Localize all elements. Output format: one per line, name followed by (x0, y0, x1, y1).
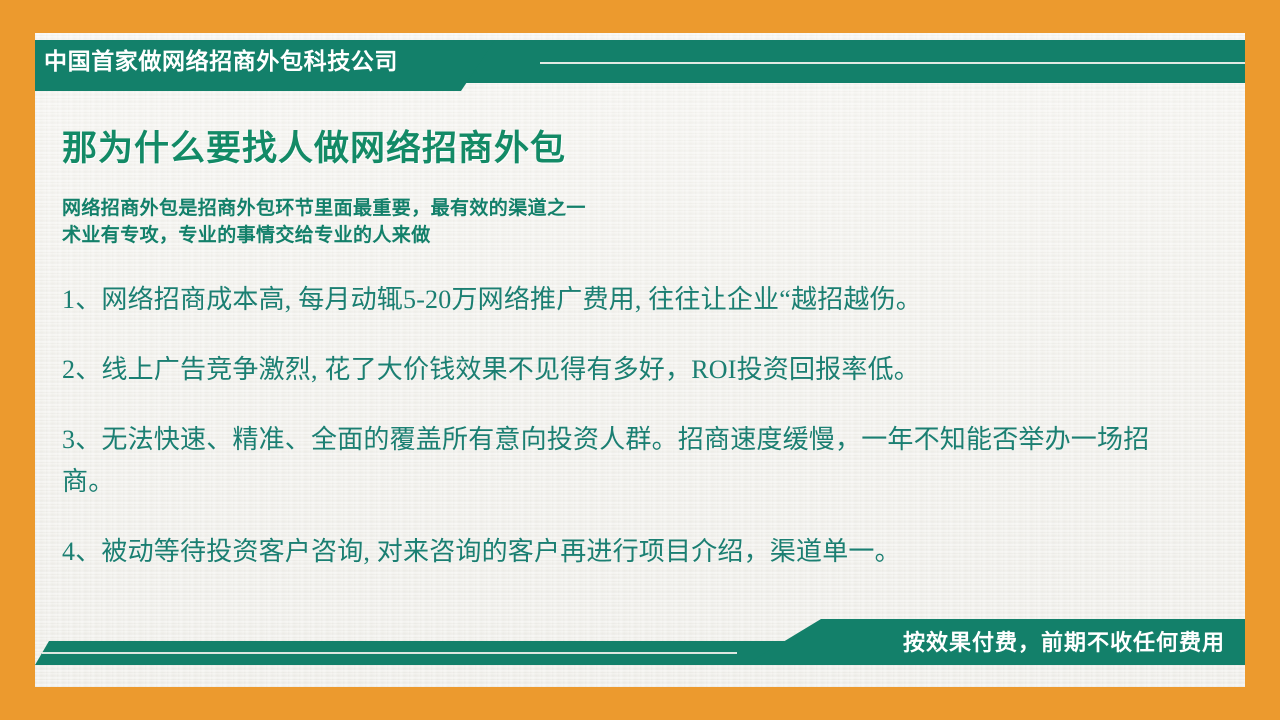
header-title: 中国首家做网络招商外包科技公司 (44, 46, 464, 77)
slide-root: 中国首家做网络招商外包科技公司 那为什么要找人做网络招商外包 网络招商外包是招商… (0, 0, 1280, 720)
content-area: 那为什么要找人做网络招商外包 网络招商外包是招商外包环节里面最重要，最有效的渠道… (62, 125, 1212, 573)
right-border-strip (1245, 0, 1280, 720)
header-divider-line (540, 62, 1280, 64)
subtitle-block: 网络招商外包是招商外包环节里面最重要，最有效的渠道之一 术业有专攻，专业的事情交… (62, 195, 1212, 249)
list-item: 3、无法快速、精准、全面的覆盖所有意向投资人群。招商速度缓慢，一年不知能否举办一… (62, 419, 1182, 503)
list-item: 4、被动等待投资客户咨询, 对来咨询的客户再进行项目介绍，渠道单一。 (62, 531, 1182, 573)
footer-tagline: 按效果付费，前期不收任何费用 (903, 628, 1225, 658)
left-border-strip (0, 0, 35, 720)
page-title: 那为什么要找人做网络招商外包 (62, 125, 1212, 173)
points-list: 1、网络招商成本高, 每月动辄5-20万网络推广费用, 往往让企业“越招越伤。 … (62, 279, 1212, 573)
list-item: 2、线上广告竞争激烈, 花了大价钱效果不见得有多好，ROI投资回报率低。 (62, 349, 1182, 391)
subtitle-line-2: 术业有专攻，专业的事情交给专业的人来做 (62, 222, 1212, 249)
footer-divider-line (42, 652, 737, 654)
subtitle-line-1: 网络招商外包是招商外包环节里面最重要，最有效的渠道之一 (62, 195, 1212, 222)
list-item: 1、网络招商成本高, 每月动辄5-20万网络推广费用, 往往让企业“越招越伤。 (62, 279, 1182, 321)
